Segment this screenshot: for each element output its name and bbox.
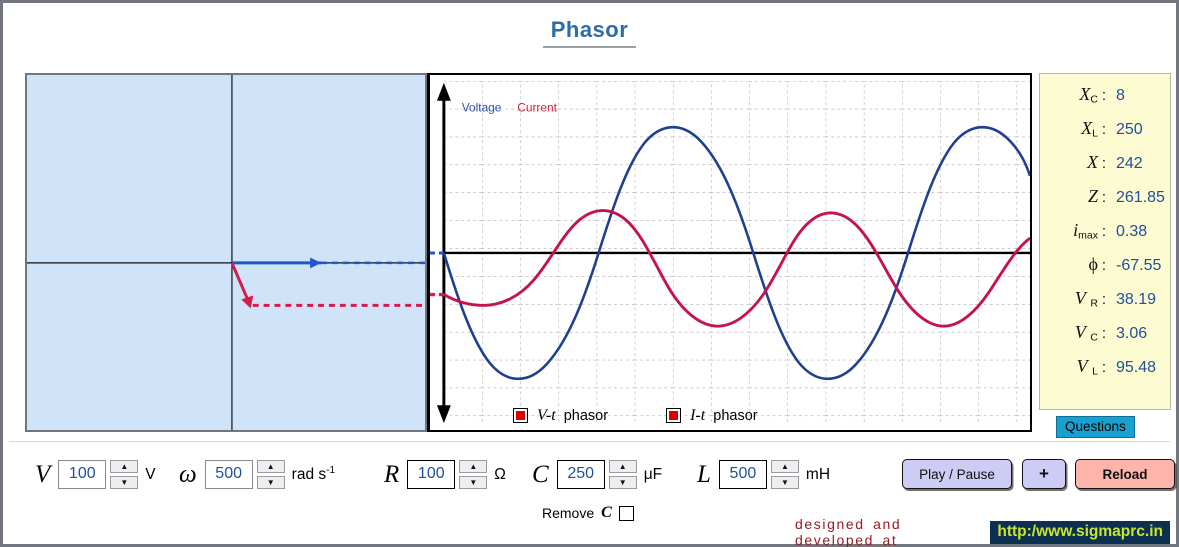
remove-capacitor-control[interactable]: Remove C — [542, 504, 634, 522]
voltage-phasor-arrowhead — [310, 257, 321, 268]
capacitance-stepper-down[interactable]: ▼ — [609, 476, 637, 489]
omega-input[interactable]: 500 — [205, 460, 253, 489]
result-value-vl: 95.48 — [1116, 359, 1156, 377]
inductance-stepper[interactable]: ▲ ▼ — [771, 460, 799, 489]
page-title: Phasor — [543, 17, 637, 48]
control-symbol-v: V — [35, 461, 50, 489]
result-colon-x: : — [1098, 155, 1110, 172]
results-panel: XC : 8 XL : 250 X : 242 Z : 261.85 imax … — [1039, 73, 1171, 410]
voltage-input[interactable]: 100 — [58, 460, 106, 489]
result-value-phi: -67.55 — [1116, 257, 1161, 275]
voltage-axis-label: Voltage — [462, 101, 502, 115]
result-value-xc: 8 — [1116, 87, 1125, 105]
capacitance-unit: μF — [644, 466, 662, 484]
omega-stepper[interactable]: ▲ ▼ — [257, 460, 285, 489]
questions-button[interactable]: Questions — [1056, 416, 1135, 438]
omega-unit: rad s-1 — [292, 465, 335, 484]
play-pause-button[interactable]: Play / Pause — [902, 459, 1012, 489]
resistance-stepper-down[interactable]: ▼ — [459, 476, 487, 489]
result-row-vr: V R : 38.19 — [1040, 288, 1170, 322]
result-row-z: Z : 261.85 — [1040, 186, 1170, 220]
result-row-phi: ϕ : -67.55 — [1040, 254, 1170, 288]
phasor-diagram-panel — [25, 73, 427, 432]
inductance-unit: mH — [806, 466, 830, 484]
footer-text: designed and developed at — [795, 516, 983, 547]
result-row-x: X : 242 — [1040, 152, 1170, 186]
result-row-vl: V L : 95.48 — [1040, 356, 1170, 390]
phasor-simulation-window: Phasor — [0, 0, 1179, 547]
capacitance-input[interactable]: 250 — [557, 460, 605, 489]
inductance-input[interactable]: 500 — [719, 460, 767, 489]
result-colon-imax: : — [1098, 223, 1110, 240]
control-symbol-l: L — [697, 461, 711, 489]
page-title-container: Phasor — [3, 17, 1176, 48]
result-label-z: Z — [1046, 186, 1098, 207]
result-colon-xc: : — [1098, 87, 1110, 104]
result-value-z: 261.85 — [1116, 189, 1165, 207]
site-url-link[interactable]: http:/www.sigmaprc.in — [990, 521, 1170, 544]
result-row-xl: XL : 250 — [1040, 118, 1170, 152]
result-value-x: 242 — [1116, 155, 1143, 173]
waveform-graph-svg: Voltage Current — [430, 75, 1030, 430]
waveform-graph-panel: Voltage Current — [427, 73, 1032, 432]
voltage-stepper-up[interactable]: ▲ — [110, 460, 138, 473]
voltage-unit: V — [145, 466, 155, 484]
reload-button[interactable]: Reload — [1075, 459, 1175, 489]
inductance-stepper-up[interactable]: ▲ — [771, 460, 799, 473]
control-symbol-omega: ω — [179, 461, 197, 489]
resistance-unit: Ω — [494, 466, 506, 484]
result-label-imax: imax — [1046, 220, 1098, 242]
voltage-stepper-down[interactable]: ▼ — [110, 476, 138, 489]
resistance-stepper-up[interactable]: ▲ — [459, 460, 487, 473]
control-inductance: L 500 ▲ ▼ mH — [697, 460, 830, 489]
inductance-stepper-down[interactable]: ▼ — [771, 476, 799, 489]
remove-capacitor-symbol: C — [601, 504, 612, 522]
result-value-vc: 3.06 — [1116, 325, 1147, 343]
control-symbol-r: R — [384, 461, 399, 489]
resistance-stepper[interactable]: ▲ ▼ — [459, 460, 487, 489]
result-label-phi: ϕ — [1046, 254, 1098, 275]
control-symbol-c: C — [532, 461, 549, 489]
control-voltage: V 100 ▲ ▼ V — [35, 460, 156, 489]
result-row-imax: imax : 0.38 — [1040, 220, 1170, 254]
control-resistance: R 100 ▲ ▼ Ω — [384, 460, 506, 489]
capacitance-stepper[interactable]: ▲ ▼ — [609, 460, 637, 489]
phasor-diagram-svg — [27, 75, 425, 430]
result-colon-vr: : — [1098, 291, 1110, 308]
control-capacitance: C 250 ▲ ▼ μF — [532, 460, 662, 489]
result-colon-z: : — [1098, 189, 1110, 206]
result-label-vr: V R — [1046, 288, 1098, 310]
result-value-imax: 0.38 — [1116, 223, 1147, 241]
plus-button[interactable]: + — [1022, 459, 1066, 489]
result-row-vc: V C : 3.06 — [1040, 322, 1170, 356]
result-row-xc: XC : 8 — [1040, 84, 1170, 118]
result-label-vc: V C — [1046, 322, 1098, 344]
result-label-vl: V L — [1046, 356, 1098, 378]
result-label-xc: XC — [1046, 84, 1098, 106]
remove-capacitor-checkbox[interactable] — [619, 506, 634, 521]
result-colon-phi: : — [1098, 257, 1110, 274]
result-value-vr: 38.19 — [1116, 291, 1156, 309]
omega-stepper-down[interactable]: ▼ — [257, 476, 285, 489]
resistance-input[interactable]: 100 — [407, 460, 455, 489]
capacitance-stepper-up[interactable]: ▲ — [609, 460, 637, 473]
result-label-xl: XL — [1046, 118, 1098, 140]
voltage-stepper[interactable]: ▲ ▼ — [110, 460, 138, 489]
footer-credit: designed and developed at http:/www.sigm… — [795, 516, 1170, 547]
result-colon-vc: : — [1098, 325, 1110, 342]
omega-stepper-up[interactable]: ▲ — [257, 460, 285, 473]
remove-capacitor-label: Remove — [542, 505, 594, 521]
control-bar: V 100 ▲ ▼ V ω 500 ▲ ▼ rad s-1 R 100 ▲ ▼ — [9, 441, 1170, 541]
result-colon-xl: : — [1098, 121, 1110, 138]
control-omega: ω 500 ▲ ▼ rad s-1 — [179, 460, 335, 489]
current-axis-label: Current — [517, 101, 557, 115]
result-label-x: X — [1046, 152, 1098, 173]
result-value-xl: 250 — [1116, 121, 1143, 139]
result-colon-vl: : — [1098, 359, 1110, 376]
